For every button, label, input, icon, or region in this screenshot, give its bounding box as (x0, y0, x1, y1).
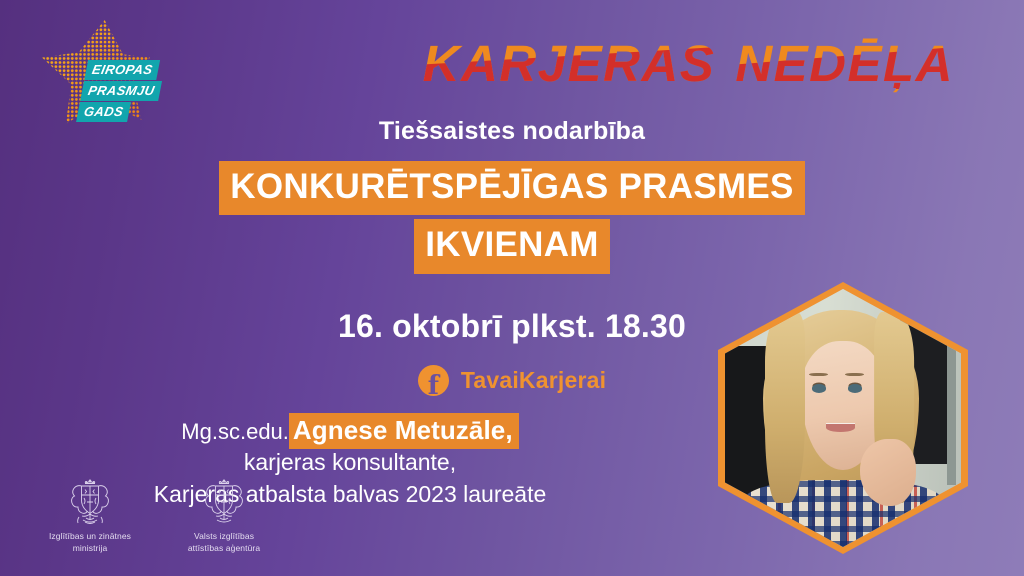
facebook-icon[interactable]: f (418, 365, 449, 396)
presenter-name: Agnese Metuzāle, (289, 413, 519, 449)
eu-logo-labels: EIROPAS PRASMJU GADS (76, 60, 167, 123)
government-logos: Izglītības un zinātnesministrija Valsts … (36, 475, 278, 554)
presenter-portrait (718, 282, 968, 554)
latvian-coat-of-arms-icon (36, 475, 144, 527)
facebook-glyph: f (418, 373, 449, 399)
headline-line-1-wrap: KONKURĒTSPĒJĪGAS PRASMES (0, 161, 1024, 216)
gov-logo-ministry: Izglītības un zinātnesministrija (36, 475, 144, 554)
eu-logo-line2: PRASMJU (80, 81, 162, 101)
wordmark-word-2: NEDĒĻA NEDĒĻA (735, 38, 954, 89)
wordmark-word-1: KARJERAS KARJERAS (423, 38, 716, 89)
karjeras-nedela-wordmark: KARJERAS KARJERAS NEDĒĻA NEDĒĻA (423, 38, 954, 89)
facebook-handle[interactable]: TavaiKarjerai (461, 367, 606, 394)
eu-logo-line1: EIROPAS (84, 60, 160, 80)
presenter-name-line: Mg.sc.edu.Agnese Metuzāle, (0, 415, 700, 446)
eiropas-prasmju-gads-logo: EIROPAS PRASMJU GADS (42, 20, 177, 130)
presenter-degree: Mg.sc.edu. (181, 419, 289, 444)
gov-logo-agency: Valsts izglītībasattīstības aģentūra (170, 475, 278, 554)
headline-line-2: IKVIENAM (414, 219, 610, 274)
headline-line-2-wrap: IKVIENAM (0, 219, 1024, 274)
poster-canvas: EIROPAS PRASMJU GADS KARJERAS KARJERAS N… (0, 0, 1024, 576)
latvian-coat-of-arms-icon (170, 475, 278, 527)
gov-logo-ministry-caption: Izglītības un zinātnesministrija (36, 531, 144, 554)
headline-line-1: KONKURĒTSPĒJĪGAS PRASMES (219, 161, 804, 216)
presenter-role: karjeras konsultante, (0, 448, 700, 478)
event-subtitle: Tiešsaistes nodarbība (0, 118, 1024, 146)
gov-logo-agency-caption: Valsts izglītībasattīstības aģentūra (170, 531, 278, 554)
